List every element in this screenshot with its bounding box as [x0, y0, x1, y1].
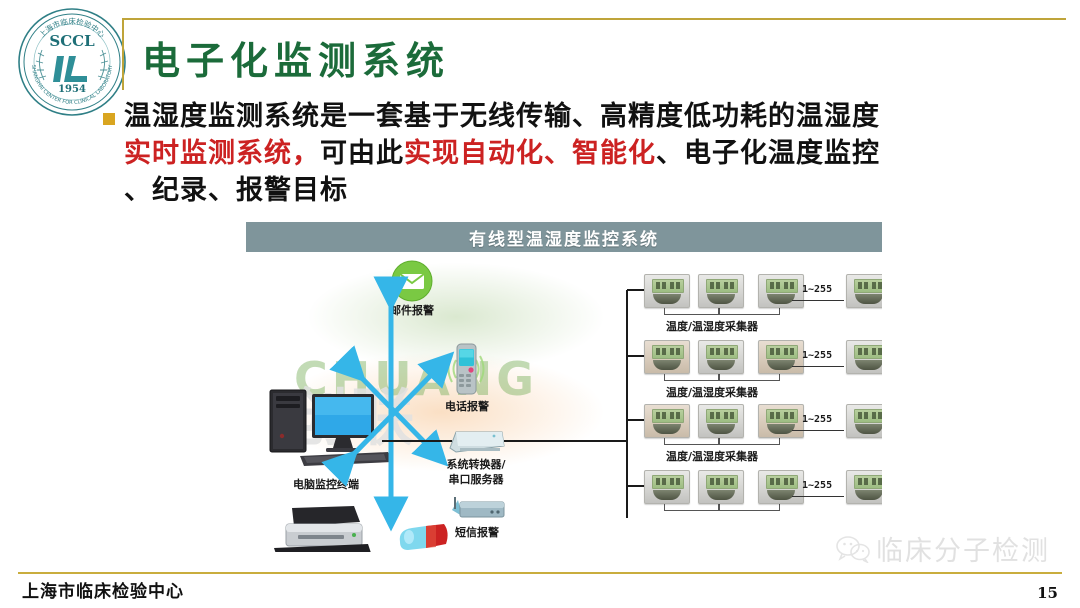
sensor-device-last: [846, 340, 882, 374]
sensor-vent: [767, 424, 795, 434]
square-bullet-icon: [103, 113, 115, 125]
sensor-vent: [707, 490, 735, 500]
sensor-chain-bracket: [718, 438, 780, 445]
sensor-lcd-display: [652, 345, 684, 359]
sensor-vent: [767, 294, 795, 304]
sensor-vent: [855, 490, 882, 500]
sensor-range-label: 1~255: [802, 284, 832, 295]
sensor-device-last: [846, 470, 882, 504]
body-paragraph: 温湿度监测系统是一套基于无线传输、高精度低功耗的温湿度 实时监测系统，可由此实现…: [124, 98, 1064, 209]
sensor-device: [758, 470, 804, 504]
sensor-lcd-display: [854, 279, 882, 293]
sensor-group-label: 温度/温湿度采集器: [666, 384, 758, 400]
range-underline: [792, 496, 844, 497]
sensor-chain-bracket: [664, 374, 720, 381]
sensor-chain-bracket: [664, 504, 720, 511]
wechat-icon: [836, 535, 870, 563]
page-title: 电子化监测系统: [142, 30, 450, 85]
page-number: 15: [1037, 584, 1058, 602]
bus-stub: [627, 419, 644, 421]
sensor-range-label: 1~255: [802, 480, 832, 491]
sensor-device: [644, 470, 690, 504]
sensor-vent: [855, 360, 882, 370]
sensor-device-last: [846, 404, 882, 438]
sensor-device: [758, 404, 804, 438]
sensor-vent: [653, 360, 681, 370]
sensor-vent: [855, 424, 882, 434]
sensor-chain-bracket: [664, 438, 720, 445]
body-segment: 温湿度监测系统是一套基于无线传输、高精度低功耗的温湿度: [124, 101, 880, 132]
diagram-canvas: CHUANG 创联 邮件报警: [246, 252, 882, 552]
diagram-header-title: 有线型温湿度监控系统: [469, 225, 659, 250]
system-architecture-diagram: 有线型温湿度监控系统 CHUANG 创联 邮件报警: [246, 222, 882, 552]
sensor-lcd-display: [706, 279, 738, 293]
trunk-line-to-pc: [382, 440, 452, 442]
sensor-lcd-display: [854, 475, 882, 489]
sensor-device: [698, 340, 744, 374]
sensor-lcd-display: [652, 475, 684, 489]
wechat-account-name: 临床分子检测: [876, 529, 1050, 568]
sensor-vent: [767, 490, 795, 500]
sensor-lcd-display: [766, 345, 798, 359]
footer-divider: [18, 572, 1062, 574]
sensor-vent: [653, 490, 681, 500]
sensor-device: [698, 274, 744, 308]
sensor-vent: [707, 294, 735, 304]
sensor-vent: [707, 360, 735, 370]
diagram-header-bar: 有线型温湿度监控系统: [246, 222, 882, 252]
sensor-chain-bracket: [718, 504, 780, 511]
sensor-lcd-display: [854, 345, 882, 359]
slide-canvas: SCCL 1954 上海市临床检验中心 SHANGHAI CENTER FOR …: [0, 0, 1080, 608]
sensor-device-last: [846, 274, 882, 308]
logo-acronym: SCCL: [49, 32, 95, 50]
sensor-device: [698, 404, 744, 438]
bus-stub: [627, 355, 644, 357]
sensor-lcd-display: [706, 409, 738, 423]
sensor-group-label: 温度/温湿度采集器: [666, 448, 758, 464]
logo-year: 1954: [58, 84, 86, 95]
sensor-vent: [707, 424, 735, 434]
sensor-device: [758, 274, 804, 308]
body-segment: 可由此: [320, 138, 404, 169]
sccl-seal-logo: SCCL 1954 上海市临床检验中心 SHANGHAI CENTER FOR …: [16, 6, 128, 118]
sensor-chain-bracket: [664, 308, 720, 315]
body-segment: 、电子化温度监控: [656, 138, 880, 169]
alarm-dispatch-arrows: [246, 252, 546, 552]
body-line: 、纪录、报警目标: [124, 172, 1064, 209]
sensor-vent: [653, 424, 681, 434]
sensor-lcd-display: [706, 475, 738, 489]
range-underline: [792, 430, 844, 431]
sensor-lcd-display: [706, 345, 738, 359]
body-line: 温湿度监测系统是一套基于无线传输、高精度低功耗的温湿度: [124, 98, 1064, 135]
wechat-watermark: 临床分子检测: [836, 529, 1050, 568]
sensor-lcd-display: [652, 409, 684, 423]
sensor-device: [758, 340, 804, 374]
sensor-lcd-display: [652, 279, 684, 293]
sensor-lcd-display: [766, 409, 798, 423]
sensor-range-label: 1~255: [802, 414, 832, 425]
sensor-group-label: 温度/温湿度采集器: [666, 318, 758, 334]
body-line: 实时监测系统，可由此实现自动化、智能化、电子化温度监控: [124, 135, 1064, 172]
body-segment: 实现自动化、智能化: [404, 138, 656, 169]
sensor-device: [698, 470, 744, 504]
sensor-lcd-display: [766, 279, 798, 293]
sensor-device: [644, 274, 690, 308]
body-segment: 、纪录、报警目标: [124, 175, 348, 206]
footer-organization: 上海市临床检验中心: [22, 577, 184, 602]
sensor-vent: [653, 294, 681, 304]
sensor-lcd-display: [854, 409, 882, 423]
sensor-chain-bracket: [718, 374, 780, 381]
bus-stub: [627, 485, 644, 487]
body-segment: 实时监测系统，: [124, 138, 320, 169]
range-underline: [792, 300, 844, 301]
sensor-device: [644, 404, 690, 438]
sensor-range-label: 1~255: [802, 350, 832, 361]
sensor-device: [644, 340, 690, 374]
range-underline: [792, 366, 844, 367]
bus-line-vertical: [626, 290, 628, 518]
bus-stub: [627, 289, 644, 291]
sensor-lcd-display: [766, 475, 798, 489]
trunk-line-horizontal: [504, 440, 628, 442]
sensor-vent: [767, 360, 795, 370]
sensor-vent: [855, 294, 882, 304]
sensor-chain-bracket: [718, 308, 780, 315]
